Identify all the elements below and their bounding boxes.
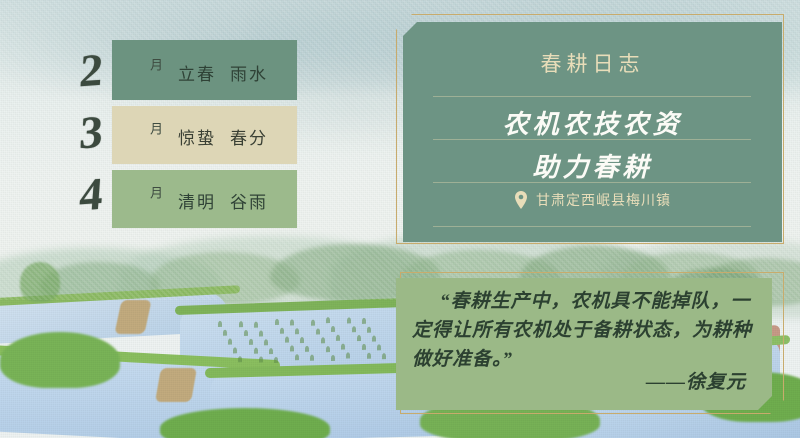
calendar-month-number: 4 xyxy=(78,168,152,219)
quote-attribution: ——徐复元 xyxy=(646,367,746,394)
poster-canvas: 2 月 立春雨水 3 月 惊蛰春分 4 月 清明谷雨 春耕日志 xyxy=(0,0,800,438)
calendar-month-unit: 月 xyxy=(146,58,165,71)
earth-bank xyxy=(155,368,197,402)
solar-term-a: 清明 xyxy=(178,193,216,212)
hero-headline-line2: 助力春耕 xyxy=(403,147,782,184)
calendar-row-march[interactable]: 3 月 惊蛰春分 xyxy=(112,106,297,164)
location-pin-icon xyxy=(514,191,528,209)
calendar-terms: 清明谷雨 xyxy=(178,188,268,213)
quote-card: “春耕生产中，农机具不能掉队，一定得让所有农机处于备耕状态，为耕种做好准备。” … xyxy=(396,272,782,414)
solar-term-a: 立春 xyxy=(178,65,216,84)
hero-divider xyxy=(433,139,751,140)
hero-card-body: 春耕日志 农机农技农资 助力春耕 甘肃定西岷县梅川镇 xyxy=(403,22,782,242)
calendar-month-number: 3 xyxy=(78,106,152,157)
calendar-month-number: 2 xyxy=(78,44,152,95)
hero-divider xyxy=(433,226,751,227)
hero-kicker: 春耕日志 xyxy=(403,48,782,78)
solar-term-b: 雨水 xyxy=(230,65,268,84)
quote-text: “春耕生产中，农机具不能掉队，一定得让所有农机处于备耕状态，为耕种做好准备。” xyxy=(412,288,756,375)
solar-term-b: 春分 xyxy=(230,129,268,148)
calendar-row-april[interactable]: 4 月 清明谷雨 xyxy=(112,170,297,228)
hero-location: 甘肃定西岷县梅川镇 xyxy=(403,190,782,210)
rice-seedlings xyxy=(218,315,388,367)
calendar-row-february[interactable]: 2 月 立春雨水 xyxy=(112,40,297,100)
hero-headline-line1: 农机农技农资 xyxy=(403,104,782,141)
solar-term-a: 惊蛰 xyxy=(178,129,216,148)
hero-card: 春耕日志 农机农技农资 助力春耕 甘肃定西岷县梅川镇 xyxy=(396,14,782,242)
solar-term-b: 谷雨 xyxy=(230,193,268,212)
solar-term-calendar: 2 月 立春雨水 3 月 惊蛰春分 4 月 清明谷雨 xyxy=(80,40,310,220)
calendar-terms: 立春雨水 xyxy=(178,60,268,85)
grass-patch xyxy=(20,262,60,302)
calendar-month-unit: 月 xyxy=(146,186,165,199)
hero-location-label: 甘肃定西岷县梅川镇 xyxy=(536,190,671,210)
hero-divider xyxy=(433,96,751,97)
grass-patch xyxy=(0,332,120,388)
hero-divider xyxy=(433,182,751,183)
calendar-terms: 惊蛰春分 xyxy=(178,124,268,149)
calendar-month-unit: 月 xyxy=(146,122,165,135)
quote-card-body: “春耕生产中，农机具不能掉队，一定得让所有农机处于备耕状态，为耕种做好准备。” … xyxy=(396,278,772,410)
